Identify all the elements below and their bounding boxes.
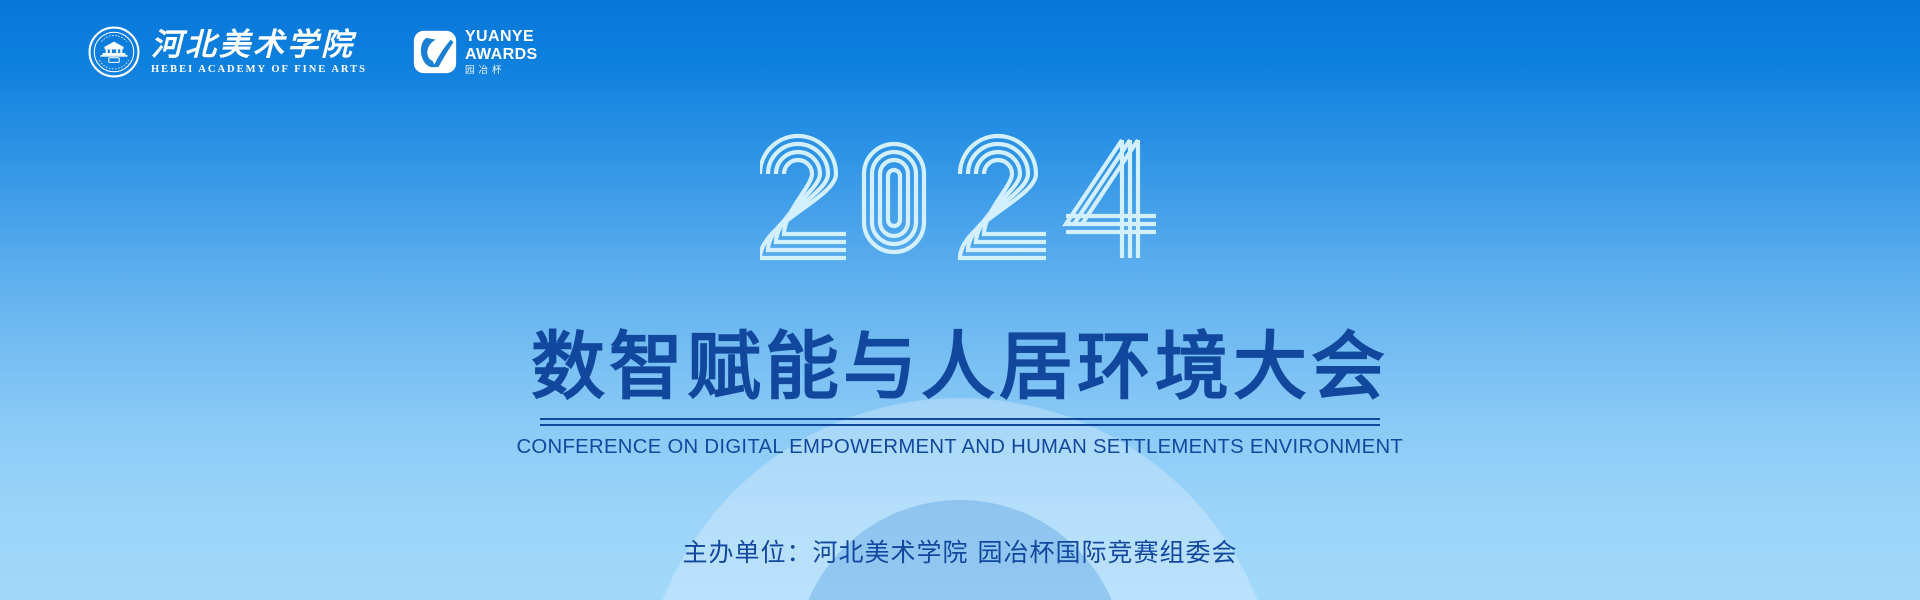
divider-rule-bottom [540, 424, 1380, 426]
yuanye-line-2: AWARDS [465, 47, 538, 63]
page-subtitle-en: CONFERENCE ON DIGITAL EMPOWERMENT AND HU… [517, 435, 1404, 459]
headline-block: 数智赋能与人居环境大会 CONFERENCE ON DIGITAL EMPOWE… [0, 330, 1920, 459]
organizer-line: 主办单位：河北美术学院 园冶杯国际竞赛组委会 [0, 533, 1920, 569]
hebei-academy-name-en: HEBEI ACADEMY OF FINE ARTS [151, 64, 367, 75]
logo-hebei-academy: 河北美术学院 HEBEI ACADEMY OF FINE ARTS [88, 26, 367, 78]
page-title: 数智赋能与人居环境大会 [531, 330, 1389, 404]
logo-group: 河北美术学院 HEBEI ACADEMY OF FINE ARTS YUANYE… [88, 26, 538, 78]
university-seal-icon [88, 26, 140, 78]
yuanye-line-3-cn: 园冶杯 [465, 66, 538, 76]
yuanye-awards-name-block: YUANYE AWARDS 园冶杯 [465, 29, 538, 76]
hebei-academy-name-block: 河北美术学院 HEBEI ACADEMY OF FINE ARTS [151, 29, 367, 75]
yuanye-leaf-mark-icon [413, 30, 457, 74]
logo-yuanye-awards: YUANYE AWARDS 园冶杯 [413, 29, 538, 76]
year-2024-striped-icon [760, 132, 1160, 264]
title-divider-rules [540, 418, 1380, 426]
yuanye-line-1: YUANYE [465, 29, 538, 45]
conference-banner: 河北美术学院 HEBEI ACADEMY OF FINE ARTS YUANYE… [0, 0, 1920, 600]
hebei-academy-name-cn: 河北美术学院 [151, 29, 355, 61]
year-graphic [0, 132, 1920, 264]
divider-rule-top [540, 418, 1380, 420]
